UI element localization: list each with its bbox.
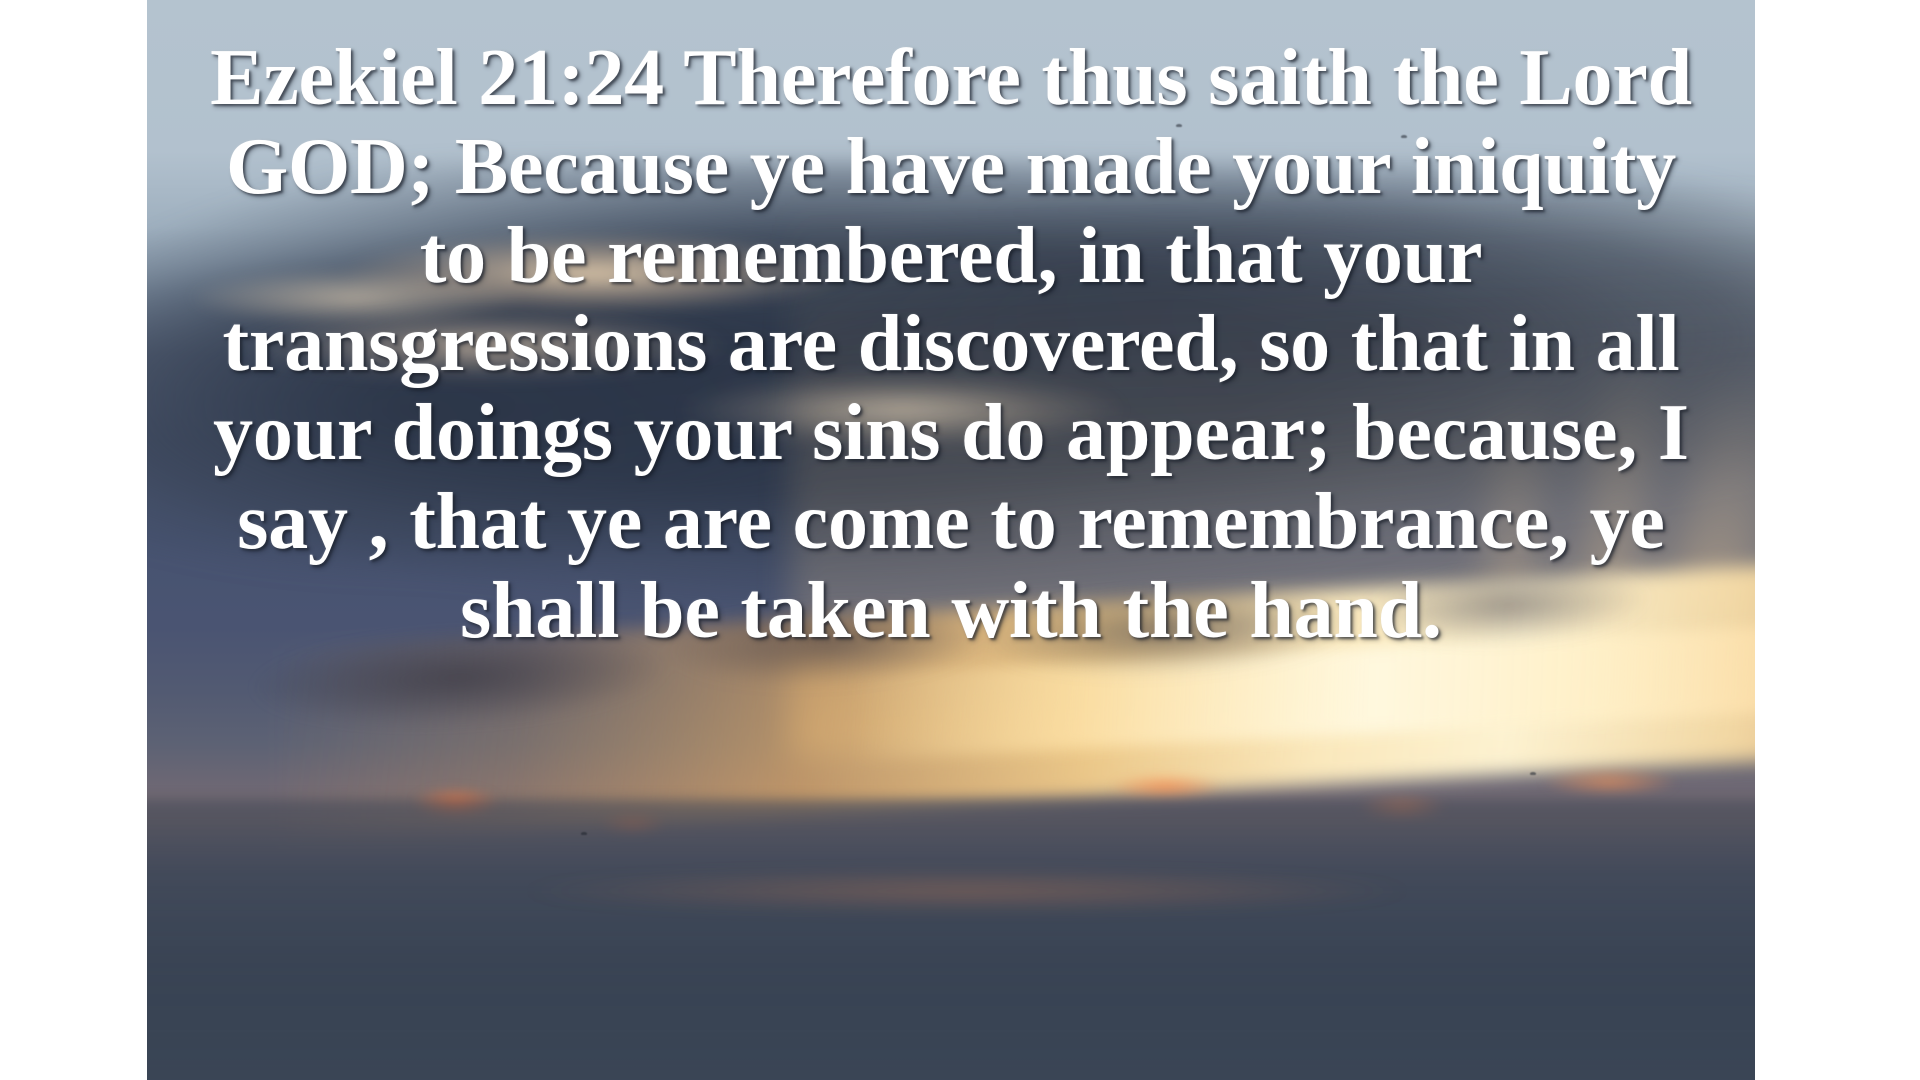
verse-text-overlay: Ezekiel 21:24 Therefore thus saith the L… xyxy=(147,0,1755,1080)
verse-slide-image: Ezekiel 21:24 Therefore thus saith the L… xyxy=(147,0,1755,1080)
slide-canvas: Ezekiel 21:24 Therefore thus saith the L… xyxy=(0,0,1920,1080)
verse-text: Ezekiel 21:24 Therefore thus saith the L… xyxy=(203,34,1698,656)
